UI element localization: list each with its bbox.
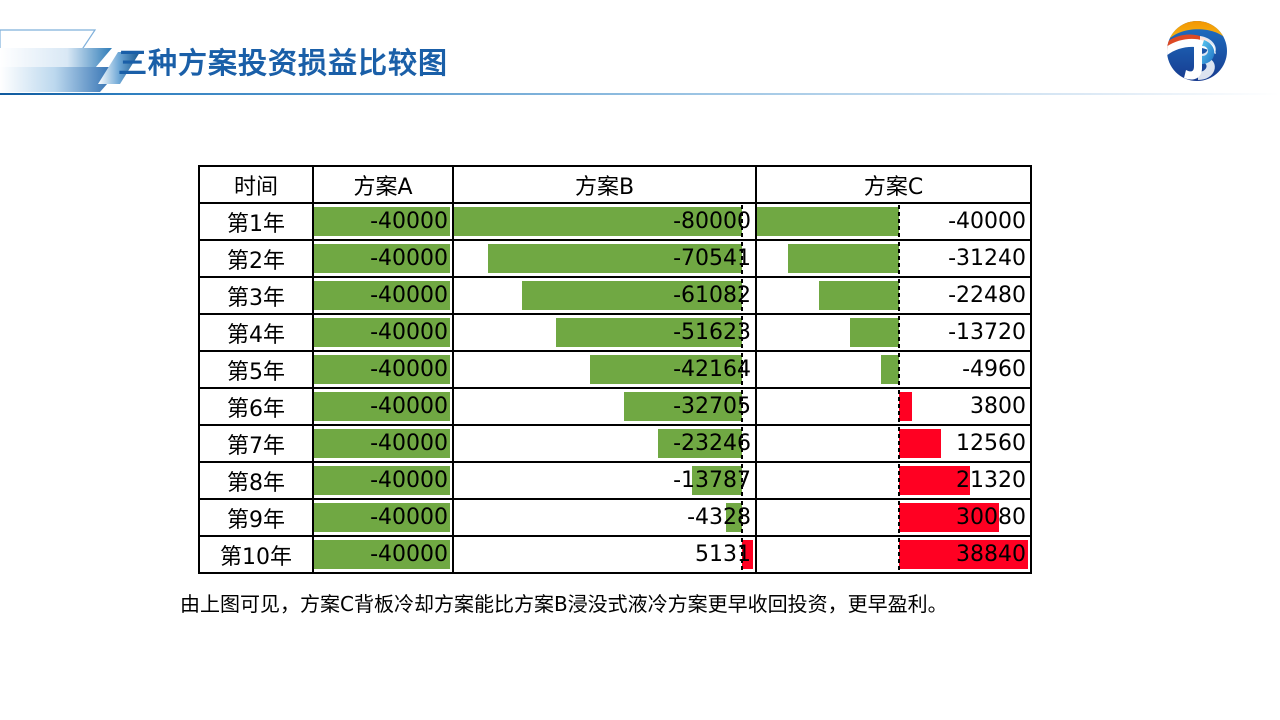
table-row: 第5年-40000-42164-4960 (199, 351, 1031, 388)
cell-value-label: -40000 (370, 464, 448, 497)
cell-value-label: -23246 (673, 427, 751, 460)
databar-cell-b: -23246 (453, 425, 756, 462)
cell-value-label: -40000 (370, 205, 448, 238)
header-divider (0, 93, 1280, 95)
databar-cell-b: -80000 (453, 203, 756, 240)
positive-data-bar (899, 392, 912, 421)
databar-cell-c: -31240 (756, 240, 1031, 277)
table-row: 第8年-40000-1378721320 (199, 462, 1031, 499)
cell-value-label: -40000 (370, 501, 448, 534)
zero-axis-line (898, 242, 900, 275)
table-row: 第9年-40000-432830080 (199, 499, 1031, 536)
cell-value-label: -32705 (673, 390, 751, 423)
databar-cell-a: -40000 (313, 203, 453, 240)
negative-data-bar (881, 355, 899, 384)
cell-value-label: 21320 (956, 464, 1026, 497)
cell-value-label: 3800 (970, 390, 1026, 423)
databar-cell-a: -40000 (313, 351, 453, 388)
cell-value-label: -40000 (948, 205, 1026, 238)
cell-value-label: -4328 (687, 501, 751, 534)
row-label-year: 第10年 (199, 536, 313, 573)
table-row: 第1年-40000-80000-40000 (199, 203, 1031, 240)
databar-cell-b: 5131 (453, 536, 756, 573)
zero-axis-line (898, 353, 900, 386)
databar-cell-b: -61082 (453, 277, 756, 314)
zero-axis-line (898, 279, 900, 312)
zero-axis-line (898, 501, 900, 534)
zero-axis-line (898, 464, 900, 497)
cell-value-label: -22480 (948, 279, 1026, 312)
cell-value-label: -40000 (370, 316, 448, 349)
databar-cell-a: -40000 (313, 314, 453, 351)
column-header-plan-b: 方案B (453, 166, 756, 203)
databar-cell-c: 38840 (756, 536, 1031, 573)
zero-axis-line (898, 538, 900, 571)
row-label-year: 第4年 (199, 314, 313, 351)
databar-cell-a: -40000 (313, 425, 453, 462)
row-label-year: 第8年 (199, 462, 313, 499)
databar-cell-c: -13720 (756, 314, 1031, 351)
cell-value-label: -40000 (370, 279, 448, 312)
zero-axis-line (898, 316, 900, 349)
databar-table: 时间 方案A 方案B 方案C 第1年-40000-80000-40000第2年-… (198, 165, 1032, 574)
row-label-year: 第3年 (199, 277, 313, 314)
databar-cell-c: -40000 (756, 203, 1031, 240)
zero-axis-line (898, 205, 900, 238)
databar-cell-c: 12560 (756, 425, 1031, 462)
row-label-year: 第9年 (199, 499, 313, 536)
cell-value-label: -42164 (673, 353, 751, 386)
databar-cell-a: -40000 (313, 240, 453, 277)
negative-data-bar (788, 244, 899, 273)
cell-value-label: 5131 (695, 538, 751, 571)
cell-value-label: -40000 (370, 390, 448, 423)
cell-value-label: -80000 (673, 205, 751, 238)
negative-data-bar (850, 318, 899, 347)
databar-cell-b: -4328 (453, 499, 756, 536)
column-header-plan-c: 方案C (756, 166, 1031, 203)
databar-cell-b: -13787 (453, 462, 756, 499)
cell-value-label: -40000 (370, 427, 448, 460)
cell-value-label: -4960 (962, 353, 1026, 386)
databar-cell-b: -42164 (453, 351, 756, 388)
negative-data-bar (757, 207, 899, 236)
cell-value-label: -13720 (948, 316, 1026, 349)
cell-value-label: -70541 (673, 242, 751, 275)
databar-cell-c: -4960 (756, 351, 1031, 388)
page-title: 三种方案投资损益比较图 (118, 40, 448, 82)
cell-value-label: -13787 (673, 464, 751, 497)
databar-cell-a: -40000 (313, 536, 453, 573)
cell-value-label: 30080 (956, 501, 1026, 534)
summary-caption: 由上图可见，方案C背板冷却方案能比方案B浸没式液冷方案更早收回投资，更早盈利。 (180, 588, 1260, 617)
table-row: 第4年-40000-51623-13720 (199, 314, 1031, 351)
zero-axis-line (898, 390, 900, 423)
investment-comparison-table: 时间 方案A 方案B 方案C 第1年-40000-80000-40000第2年-… (198, 165, 1030, 574)
databar-cell-b: -70541 (453, 240, 756, 277)
databar-cell-c: 30080 (756, 499, 1031, 536)
negative-data-bar (819, 281, 899, 310)
slide-header: 三种方案投资损益比较图 (0, 0, 1280, 96)
cell-value-label: -40000 (370, 353, 448, 386)
cell-value-label: -31240 (948, 242, 1026, 275)
table-row: 第2年-40000-70541-31240 (199, 240, 1031, 277)
cell-value-label: -40000 (370, 242, 448, 275)
databar-cell-a: -40000 (313, 277, 453, 314)
row-label-year: 第5年 (199, 351, 313, 388)
databar-cell-a: -40000 (313, 388, 453, 425)
row-label-year: 第1年 (199, 203, 313, 240)
cell-value-label: 12560 (956, 427, 1026, 460)
zero-axis-line (898, 427, 900, 460)
databar-cell-a: -40000 (313, 462, 453, 499)
positive-data-bar (899, 429, 941, 458)
databar-cell-a: -40000 (313, 499, 453, 536)
table-header-row: 时间 方案A 方案B 方案C (199, 166, 1031, 203)
table-row: 第3年-40000-61082-22480 (199, 277, 1031, 314)
cell-value-label: -51623 (673, 316, 751, 349)
column-header-plan-a: 方案A (313, 166, 453, 203)
table-row: 第10年-40000513138840 (199, 536, 1031, 573)
column-header-time: 时间 (199, 166, 313, 203)
databar-cell-c: 21320 (756, 462, 1031, 499)
cell-value-label: -61082 (673, 279, 751, 312)
row-label-year: 第2年 (199, 240, 313, 277)
databar-cell-b: -32705 (453, 388, 756, 425)
databar-cell-b: -51623 (453, 314, 756, 351)
company-globe-logo (1164, 18, 1230, 84)
row-label-year: 第7年 (199, 425, 313, 462)
cell-value-label: 38840 (956, 538, 1026, 571)
table-row: 第7年-40000-2324612560 (199, 425, 1031, 462)
row-label-year: 第6年 (199, 388, 313, 425)
databar-cell-c: -22480 (756, 277, 1031, 314)
cell-value-label: -40000 (370, 538, 448, 571)
table-body: 第1年-40000-80000-40000第2年-40000-70541-312… (199, 203, 1031, 573)
databar-cell-c: 3800 (756, 388, 1031, 425)
table-row: 第6年-40000-327053800 (199, 388, 1031, 425)
